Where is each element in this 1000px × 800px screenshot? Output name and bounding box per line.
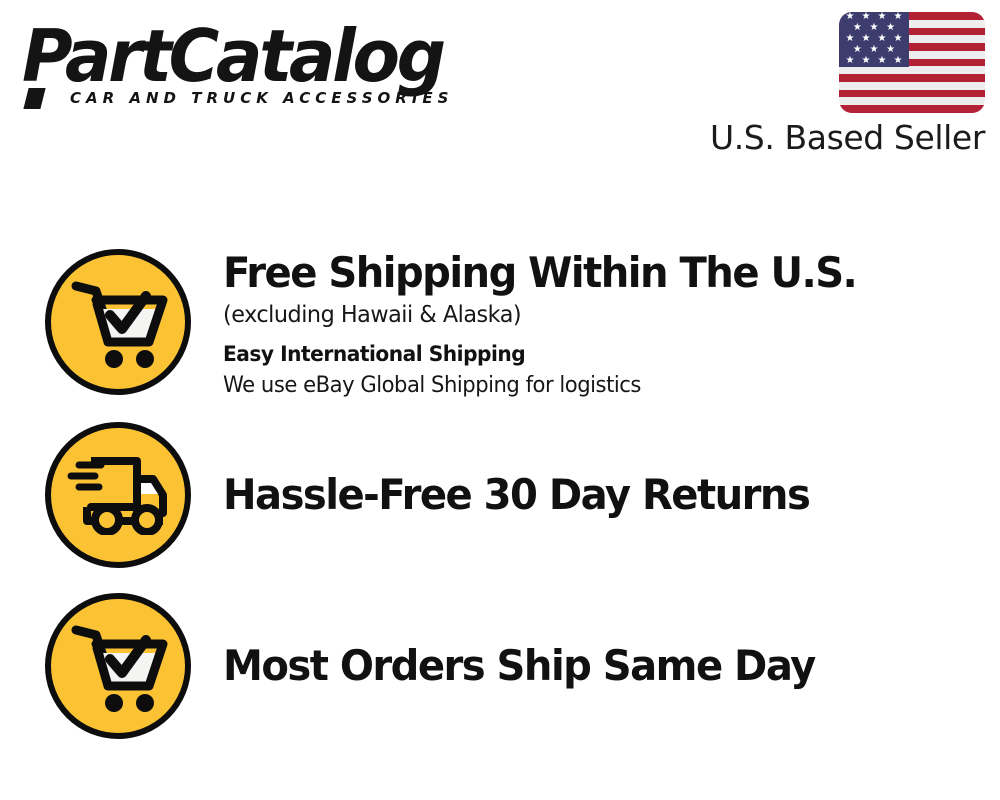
logo-slash-mark [23, 88, 45, 109]
delivery-truck-icon [45, 422, 191, 568]
brand-logo: PartCatalog CAR AND TRUCK ACCESSORIES [22, 18, 492, 118]
feature-title: Free Shipping Within The U.S. [223, 248, 965, 298]
feature-text-block: Free Shipping Within The U.S. (excluding… [191, 240, 1000, 402]
feature-row: Hassle-Free 30 Day Returns [0, 412, 1000, 583]
feature-subtext: We use eBay Global Shipping for logistic… [223, 370, 969, 402]
seller-info-banner: PartCatalog CAR AND TRUCK ACCESSORIES ★★… [0, 0, 1000, 800]
feature-row: Free Shipping Within The U.S. (excluding… [0, 240, 1000, 412]
brand-tagline: CAR AND TRUCK ACCESSORIES [70, 89, 453, 107]
shopping-cart-check-icon [45, 249, 191, 395]
feature-title: Hassle-Free 30 Day Returns [223, 470, 965, 520]
brand-wordmark: PartCatalog [22, 18, 473, 94]
feature-row: Most Orders Ship Same Day [0, 583, 1000, 755]
brand-tagline-row: CAR AND TRUCK ACCESSORIES [22, 88, 492, 110]
us-based-seller-badge: ★★★★ ★★★ ★★★★ ★★★ ★★★★ U.S. Based Seller [665, 12, 985, 157]
feature-title: Most Orders Ship Same Day [223, 641, 965, 691]
flag-canton: ★★★★ ★★★ ★★★★ ★★★ ★★★★ [839, 12, 909, 67]
feature-text-block: Most Orders Ship Same Day [191, 583, 1000, 691]
shopping-cart-check-icon [45, 593, 191, 739]
us-flag-icon: ★★★★ ★★★ ★★★★ ★★★ ★★★★ [839, 12, 985, 113]
feature-note: (excluding Hawaii & Alaska) [223, 298, 977, 332]
us-based-seller-label: U.S. Based Seller [665, 119, 985, 157]
feature-text-block: Hassle-Free 30 Day Returns [191, 412, 1000, 520]
feature-list: Free Shipping Within The U.S. (excluding… [0, 240, 1000, 755]
feature-subheading: Easy International Shipping [223, 339, 969, 370]
